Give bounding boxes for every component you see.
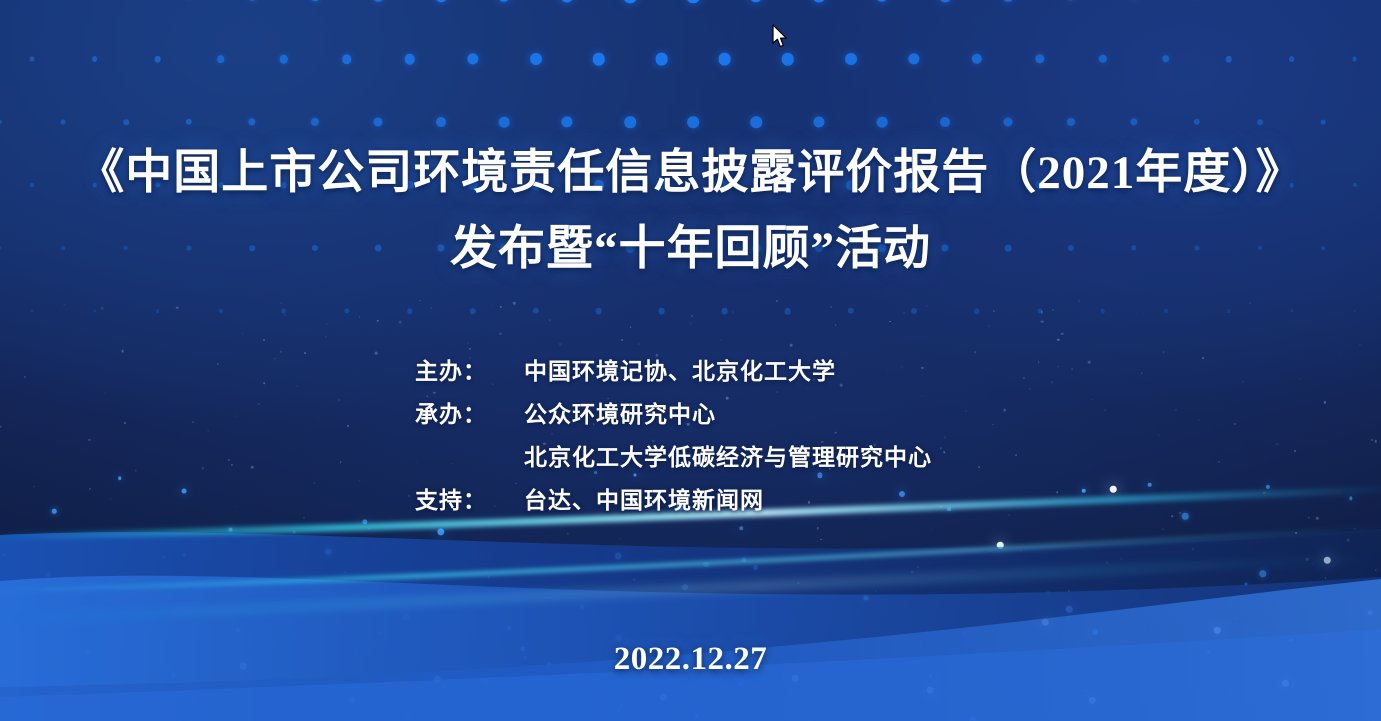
background-dot (561, 116, 572, 127)
background-dot (595, 308, 602, 315)
background-dot (217, 55, 225, 63)
background-dot (624, 116, 636, 128)
background-dot (939, 0, 951, 2)
background-dot (781, 53, 794, 66)
background-dot (721, 308, 728, 315)
background-dot (877, 117, 888, 128)
background-dot (592, 53, 605, 66)
background-dot (658, 308, 665, 315)
background-dot (686, 0, 700, 3)
particle (1057, 338, 1059, 340)
particle (630, 326, 632, 328)
particle (281, 302, 282, 303)
particle (1330, 351, 1331, 352)
event-date: 2022.12.27 (0, 641, 1381, 678)
background-dot (498, 0, 510, 2)
particle (207, 430, 209, 432)
background-dot (750, 116, 762, 128)
particle (791, 330, 792, 331)
background-dot (847, 308, 853, 314)
background-dot (218, 309, 222, 313)
particle (1198, 419, 1200, 421)
background-dot (1162, 55, 1169, 62)
background-dot (974, 308, 980, 314)
background-dot (499, 117, 510, 128)
particle (242, 333, 244, 335)
particle (471, 313, 473, 315)
background-dot (342, 54, 352, 64)
credit-row-host-secondary: 北京化工大学低碳经济与管理研究中心 (415, 438, 1115, 481)
particle (121, 350, 124, 353)
particle (499, 333, 501, 335)
particle (263, 382, 265, 384)
background-dot (1035, 54, 1044, 63)
particle (790, 344, 793, 347)
background-dot (1257, 119, 1263, 125)
background-dot (436, 117, 446, 127)
credit-value-host: 公众环境研究中心 (524, 395, 716, 429)
mouse-pointer-icon (772, 24, 789, 49)
credit-value-host-secondary: 北京化工大学低碳经济与管理研究中心 (524, 438, 932, 472)
particle (1141, 373, 1143, 375)
background-dot (281, 309, 286, 314)
particle (1159, 434, 1160, 435)
particle (325, 336, 326, 337)
background-dot (344, 308, 349, 313)
background-dot (0, 120, 2, 124)
particle (691, 315, 693, 317)
particle (889, 321, 891, 323)
background-dot (154, 56, 161, 63)
particle (338, 399, 340, 401)
particle (469, 348, 471, 350)
background-dot (1098, 55, 1106, 63)
particle (639, 344, 640, 345)
background-dot (373, 117, 382, 126)
particle (1176, 409, 1177, 410)
background-dot (92, 56, 98, 62)
background-dot (279, 55, 288, 64)
background-dot (186, 119, 192, 125)
background-dot (784, 308, 791, 315)
particle (234, 416, 235, 417)
particle (1371, 439, 1373, 441)
particle (104, 392, 105, 393)
background-dot (373, 0, 384, 1)
background-dot (435, 0, 447, 2)
background-dot (623, 0, 637, 3)
particle (217, 363, 219, 365)
presentation-slide: 《中国上市公司环境责任信息披露评价报告（2021年度）》 发布暨“十年回顾”活动… (0, 0, 1381, 721)
background-dot (876, 0, 888, 2)
background-dot (467, 53, 478, 64)
particle (24, 376, 26, 378)
slide-title-block: 《中国上市公司环境责任信息披露评价报告（2021年度）》 发布暨“十年回顾”活动 (0, 142, 1381, 280)
background-dot (530, 53, 542, 65)
background-dot (248, 118, 255, 125)
credit-label-support: 支持： (415, 481, 524, 515)
particle (304, 352, 306, 354)
background-dot (1100, 309, 1105, 314)
particle (835, 325, 837, 327)
particle (359, 316, 361, 318)
particle (88, 438, 90, 440)
background-dot (971, 54, 981, 64)
background-dot (1289, 56, 1295, 62)
particle (1078, 301, 1080, 303)
background-dot (1004, 118, 1013, 127)
particle (263, 339, 265, 341)
particle (297, 386, 298, 387)
credits-block: 主办： 中国环境记协、北京化工大学 承办： 公众环境研究中心 北京化工大学低碳经… (415, 352, 1115, 524)
particle (124, 422, 126, 424)
background-dot (30, 310, 33, 313)
background-dot (93, 309, 96, 312)
particle (319, 418, 320, 419)
particle (1374, 440, 1377, 443)
particle (101, 307, 104, 310)
particle (1061, 333, 1064, 336)
particle (1202, 358, 1204, 360)
background-dot (1066, 0, 1075, 1)
background-dot (813, 0, 826, 3)
particle (347, 425, 349, 427)
background-dot (1227, 309, 1231, 313)
particle (1277, 444, 1279, 446)
particle (1340, 353, 1342, 355)
particle (0, 426, 2, 429)
particle (720, 339, 721, 340)
background-dot (404, 54, 415, 65)
background-dot (1194, 119, 1200, 125)
background-dot (1003, 0, 1014, 1)
particle (257, 403, 259, 405)
background-dot (156, 309, 160, 313)
particle (559, 343, 561, 345)
background-dot (813, 116, 824, 127)
credit-row-host: 承办： 公众环境研究中心 (415, 395, 1115, 438)
background-dot (1225, 56, 1232, 63)
particle (1163, 351, 1165, 353)
background-dot (311, 118, 319, 126)
particle (466, 342, 468, 344)
background-dot (940, 117, 950, 127)
particle (192, 422, 194, 424)
background-dot (908, 53, 919, 64)
particle (1294, 450, 1296, 452)
particle (988, 325, 990, 327)
particle (513, 302, 516, 305)
background-dot (749, 0, 762, 3)
background-dot (1352, 57, 1357, 62)
background-dot (560, 0, 573, 3)
background-dot (655, 53, 668, 66)
background-dot (911, 308, 917, 314)
particle (621, 339, 623, 341)
background-dot (845, 53, 857, 65)
credit-label-organizer: 主办： (415, 352, 524, 386)
particle (1135, 313, 1136, 314)
particle (1332, 403, 1333, 404)
particle (1041, 320, 1044, 323)
background-dot (1067, 118, 1075, 126)
background-dot (1130, 118, 1137, 125)
particle (1233, 423, 1235, 425)
particle (1249, 302, 1251, 304)
credit-row-organizer: 主办： 中国环境记协、北京化工大学 (415, 352, 1115, 395)
credit-value-organizer: 中国环境记协、北京化工大学 (524, 352, 836, 386)
background-dot (61, 120, 66, 125)
particle (993, 310, 995, 312)
particle (549, 319, 551, 321)
credit-label-host: 承办： (415, 395, 524, 429)
credit-row-support: 支持： 台达、中国环境新闻网 (415, 481, 1115, 524)
particle (280, 350, 283, 353)
title-line-1: 《中国上市公司环境责任信息披露评价报告（2021年度）》 (0, 142, 1381, 204)
background-dot (29, 57, 34, 62)
particle (1324, 401, 1326, 403)
background-dot (532, 308, 538, 314)
particle (419, 300, 421, 302)
background-dot (1321, 120, 1326, 125)
title-line-2: 发布暨“十年回顾”活动 (0, 218, 1381, 280)
particle (1242, 382, 1243, 383)
particle (492, 305, 493, 306)
background-dot (1290, 309, 1293, 312)
background-dot (310, 0, 320, 1)
particle (375, 352, 378, 355)
particle (273, 357, 276, 360)
particle (399, 321, 402, 324)
background-dot (687, 116, 699, 128)
particle (176, 307, 179, 310)
background-dot (407, 308, 413, 314)
particle (903, 312, 905, 314)
background-dot (123, 119, 129, 125)
background-dot (718, 53, 731, 66)
credit-value-support: 台达、中国环境新闻网 (524, 481, 764, 515)
background-dot (1353, 310, 1356, 313)
particle (1360, 345, 1361, 346)
particle (1150, 378, 1151, 379)
particle (830, 306, 832, 308)
particle (1299, 379, 1300, 380)
background-dot (1163, 309, 1167, 313)
